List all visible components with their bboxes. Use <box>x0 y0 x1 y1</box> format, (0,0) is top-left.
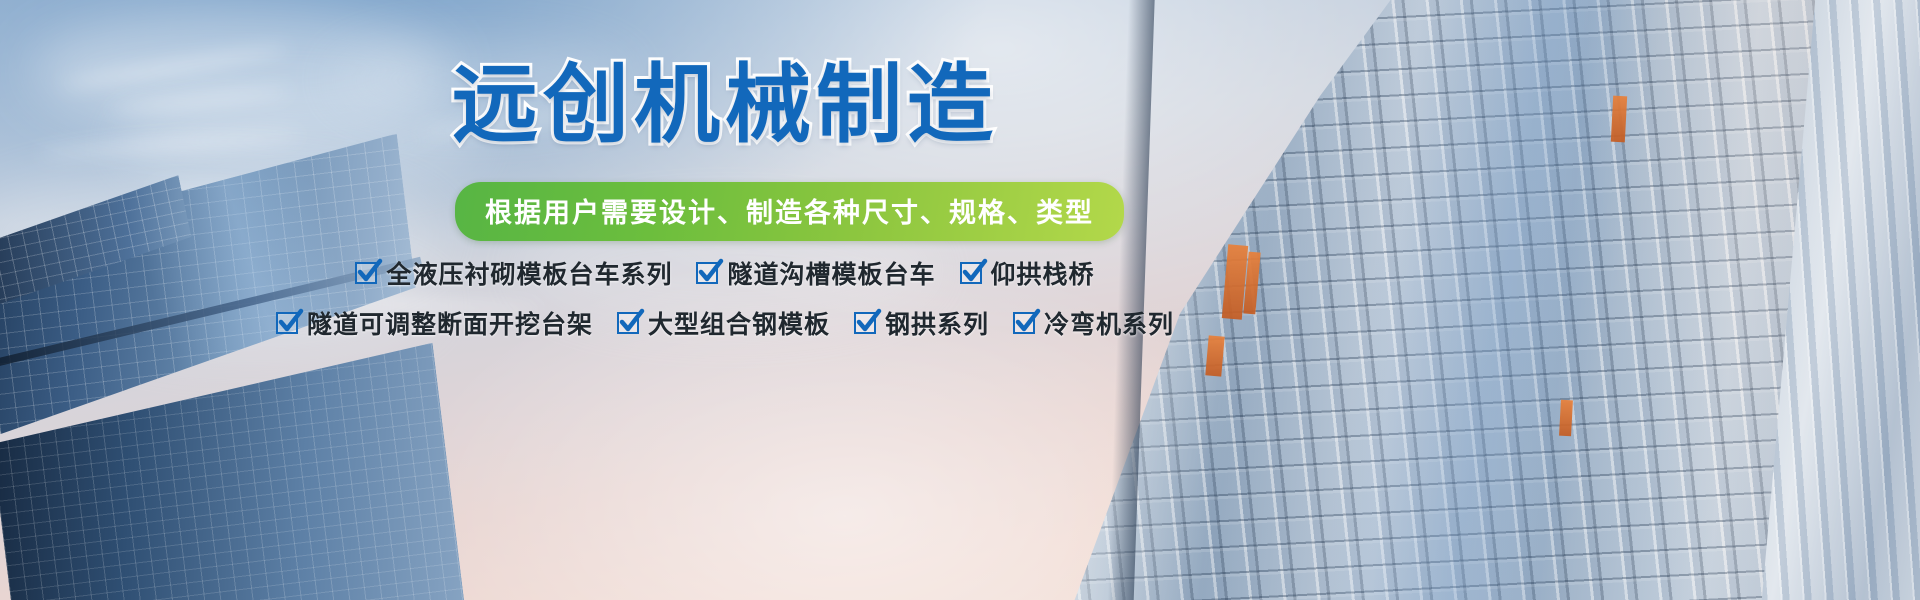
feature-label: 钢拱系列 <box>885 305 989 341</box>
feature-label: 隧道可调整断面开挖台架 <box>307 305 593 341</box>
list-item[interactable]: 隧道沟槽模板台车 <box>696 255 935 291</box>
feature-label: 全液压衬砌模板台车系列 <box>386 255 672 291</box>
checkbox-checked-icon <box>355 262 377 284</box>
page-title: 远创机械制造 <box>0 62 1450 148</box>
list-item[interactable]: 仰拱栈桥 <box>960 255 1095 291</box>
list-item[interactable]: 隧道可调整断面开挖台架 <box>276 305 593 341</box>
banner-content: 远创机械制造 根据用户需要设计、制造各种尺寸、规格、类型 全液压衬砌模板台车系列… <box>0 0 1920 600</box>
feature-label: 冷弯机系列 <box>1044 305 1174 341</box>
list-item[interactable]: 全液压衬砌模板台车系列 <box>355 255 672 291</box>
checkbox-checked-icon <box>696 262 718 284</box>
feature-label: 仰拱栈桥 <box>991 255 1095 291</box>
checkbox-checked-icon <box>960 262 982 284</box>
checkbox-checked-icon <box>1013 312 1035 334</box>
checkbox-checked-icon <box>854 312 876 334</box>
feature-label: 大型组合钢模板 <box>648 305 830 341</box>
list-item[interactable]: 钢拱系列 <box>854 305 989 341</box>
feature-list: 全液压衬砌模板台车系列 隧道沟槽模板台车 仰拱栈桥 <box>0 255 1450 355</box>
checkbox-checked-icon <box>276 312 298 334</box>
checkbox-checked-icon <box>617 312 639 334</box>
feature-label: 隧道沟槽模板台车 <box>727 255 935 291</box>
feature-row: 全液压衬砌模板台车系列 隧道沟槽模板台车 仰拱栈桥 <box>0 255 1450 291</box>
list-item[interactable]: 冷弯机系列 <box>1013 305 1174 341</box>
list-item[interactable]: 大型组合钢模板 <box>617 305 830 341</box>
hero-banner: 远创机械制造 根据用户需要设计、制造各种尺寸、规格、类型 全液压衬砌模板台车系列… <box>0 0 1920 600</box>
feature-row: 隧道可调整断面开挖台架 大型组合钢模板 钢拱系列 <box>0 305 1450 341</box>
subtitle-pill: 根据用户需要设计、制造各种尺寸、规格、类型 <box>455 182 1124 241</box>
